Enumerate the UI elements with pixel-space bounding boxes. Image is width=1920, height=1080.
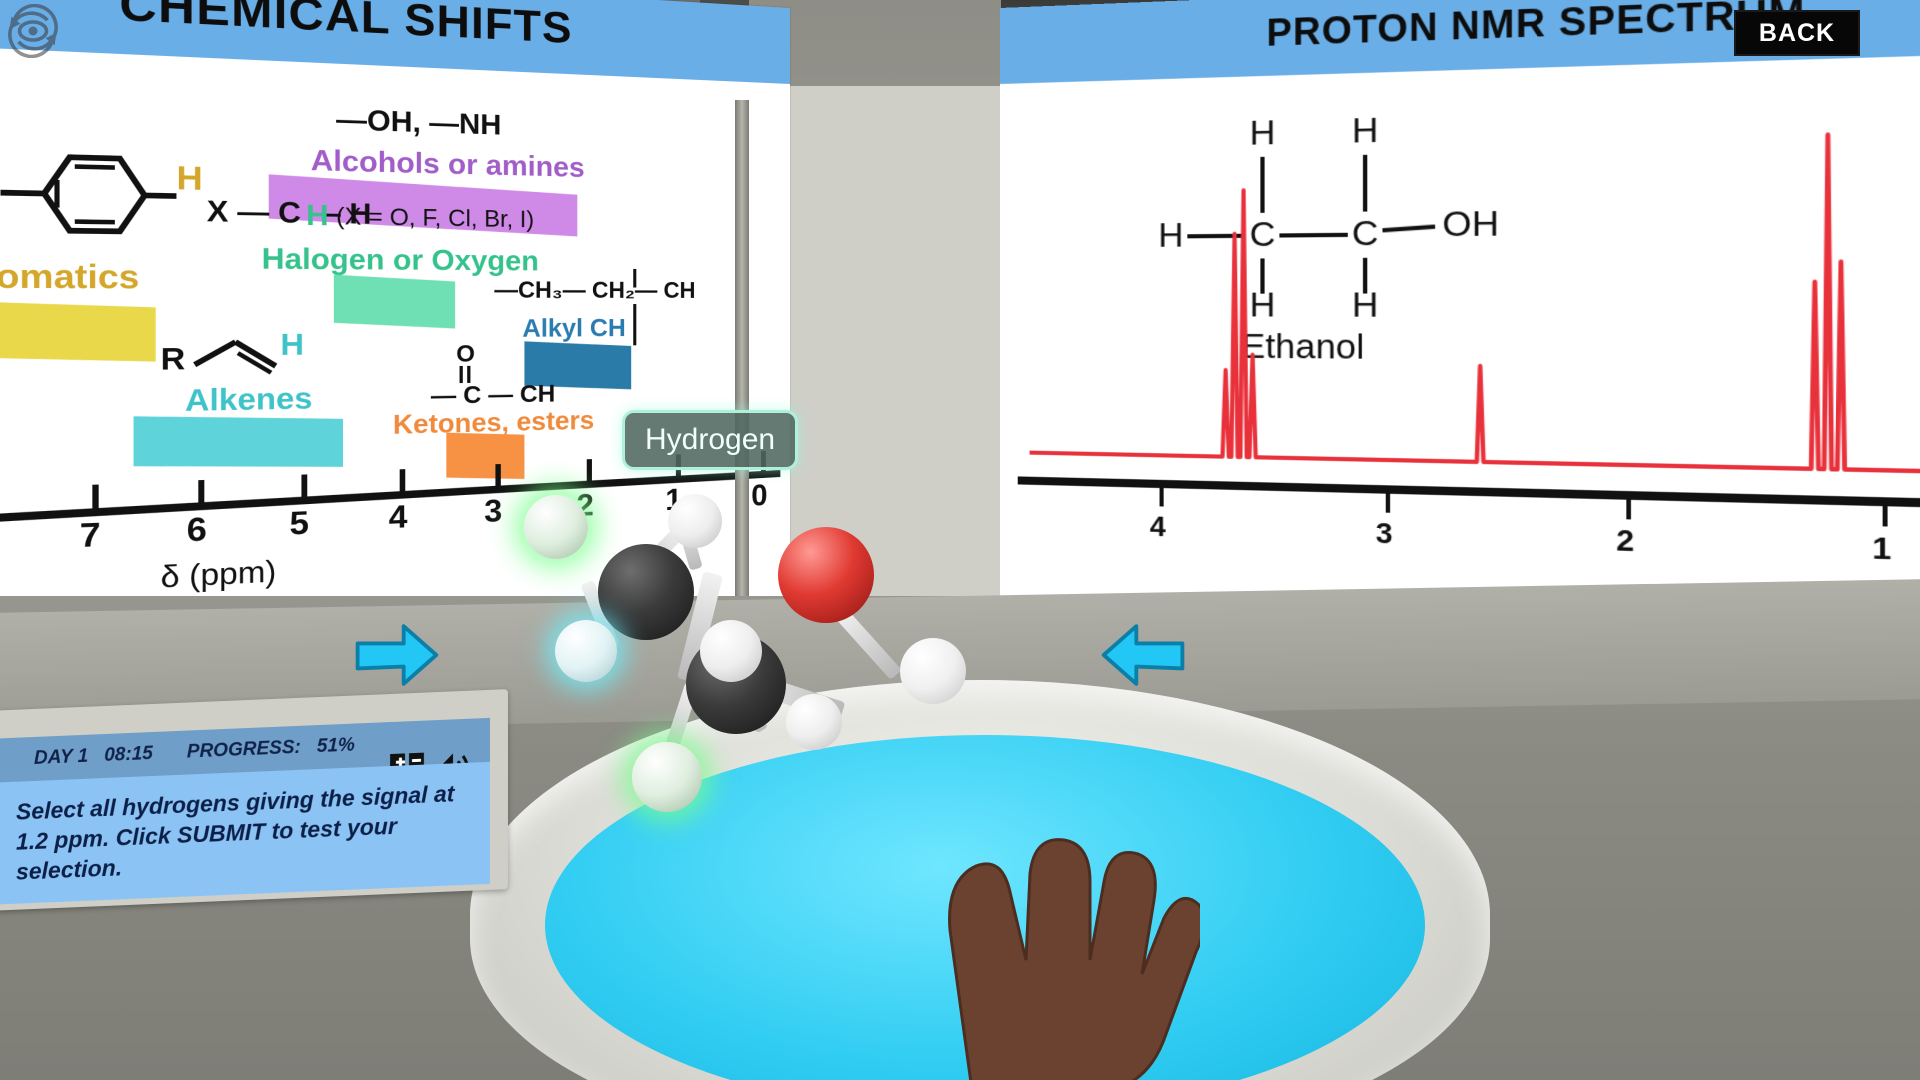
ppm-tick-label: 5 <box>290 505 309 543</box>
alcohols-amines-label: Alcohols or amines <box>311 144 585 184</box>
alkyl-ch-bond-down <box>633 304 636 345</box>
user-hand <box>880 630 1200 1080</box>
nmr-tick-label: 4 <box>1150 510 1166 543</box>
ppm-tick-label: 3 <box>484 494 502 531</box>
rotate-view-icon[interactable] <box>6 4 60 58</box>
ppm-tick <box>301 474 307 503</box>
nmr-tick <box>1883 506 1888 526</box>
hud-instruction-text: Select all hydrogens giving the signal a… <box>16 779 470 888</box>
hud-progress-value: 51% <box>317 735 355 759</box>
hud-day: DAY 1 <box>34 746 88 770</box>
rotate-right-arrow-icon[interactable] <box>348 618 444 692</box>
nmr-spectrum-plot <box>1030 113 1920 492</box>
hydrogen-atom-selected-3[interactable] <box>632 742 702 812</box>
ppm-tick <box>400 469 406 497</box>
aromatics-range-bar <box>0 301 156 362</box>
ppm-tick-label: 7 <box>80 517 101 557</box>
alkyl-ch-label: Alkyl CH <box>522 314 625 344</box>
hydrogen-atom-5[interactable] <box>786 694 842 750</box>
ppm-tick-label: 0 <box>751 478 767 513</box>
alkenes-label: Alkenes <box>185 381 312 419</box>
carbon-atom-1[interactable] <box>598 544 694 640</box>
svg-text:H: H <box>280 328 304 362</box>
hud-instruction-panel: Select all hydrogens giving the signal a… <box>0 762 490 905</box>
alkenes-range-bar <box>134 416 344 466</box>
alcohol-amine-formula: —OH, —NH <box>336 103 501 142</box>
alkyl-ch-bond-up <box>633 269 636 288</box>
halogen-oxygen-label: Halogen or Oxygen <box>262 242 539 278</box>
ppm-axis-caption: δ (ppm) <box>161 554 277 596</box>
room-corner-pillar <box>735 100 749 620</box>
aromatics-label: Aromatics <box>0 257 139 297</box>
hud-panel: DAY 1 08:15 PROGRESS: 51% Se <box>0 689 508 911</box>
svg-text:R: R <box>161 342 186 377</box>
ppm-tick <box>199 479 205 508</box>
nmr-content: H H C C H OH H H Ethanol <box>1000 0 1920 645</box>
halogen-oxygen-range-bar <box>334 275 455 329</box>
rotate-left-arrow-icon[interactable] <box>1096 618 1192 692</box>
hydrogen-atom-selected-2[interactable] <box>555 620 617 682</box>
ketone-ester-oxygen: O <box>456 340 475 368</box>
ppm-tick-label: 6 <box>187 511 207 550</box>
ppm-tick-label: 4 <box>389 499 408 536</box>
hydrogen-atom-3[interactable] <box>668 494 722 548</box>
halogen-oxygen-note: (X = O, F, Cl, Br, I) <box>336 202 534 233</box>
nmr-tick-label: 2 <box>1616 523 1634 558</box>
ppm-axis-ticks: 9876543210 <box>0 0 790 8</box>
hydrogen-atom-selected-1[interactable] <box>524 495 588 559</box>
back-button[interactable]: BACK <box>1734 10 1860 56</box>
nmr-tick <box>1386 494 1390 513</box>
hydrogen-atom-4[interactable] <box>700 620 762 682</box>
atom-tooltip: Hydrogen <box>622 410 798 470</box>
ppm-tick <box>495 464 500 492</box>
alkyl-ch-formula: —CH₃— CH₂— CH <box>494 276 695 304</box>
aromatic-ring-structure: R H <box>0 133 203 263</box>
oxygen-atom[interactable] <box>778 527 874 623</box>
nmr-tick <box>1626 500 1631 520</box>
hud-progress-label: PROGRESS: <box>187 737 301 764</box>
vr-scene: CHEMICAL SHIFTS R H Aromatics —OH, —NH A… <box>0 0 1920 1080</box>
ppm-tick <box>92 485 98 515</box>
ketone-ester-formula: — C — CH <box>431 380 555 411</box>
halogen-oxygen-formula-h: H <box>306 199 329 233</box>
nmr-tick-label: 1 <box>1872 531 1891 568</box>
nmr-tick-label: 3 <box>1376 517 1393 551</box>
nmr-trace <box>1030 130 1920 474</box>
svg-text:H: H <box>176 159 202 198</box>
ppm-tick <box>587 459 592 486</box>
nmr-spectrum-poster: PROTON NMR SPECTRUM H H C C H OH H H <box>1000 0 1920 645</box>
hud-time: 08:15 <box>104 743 153 767</box>
nmr-tick <box>1159 488 1163 507</box>
ketones-esters-range-bar <box>446 433 524 479</box>
